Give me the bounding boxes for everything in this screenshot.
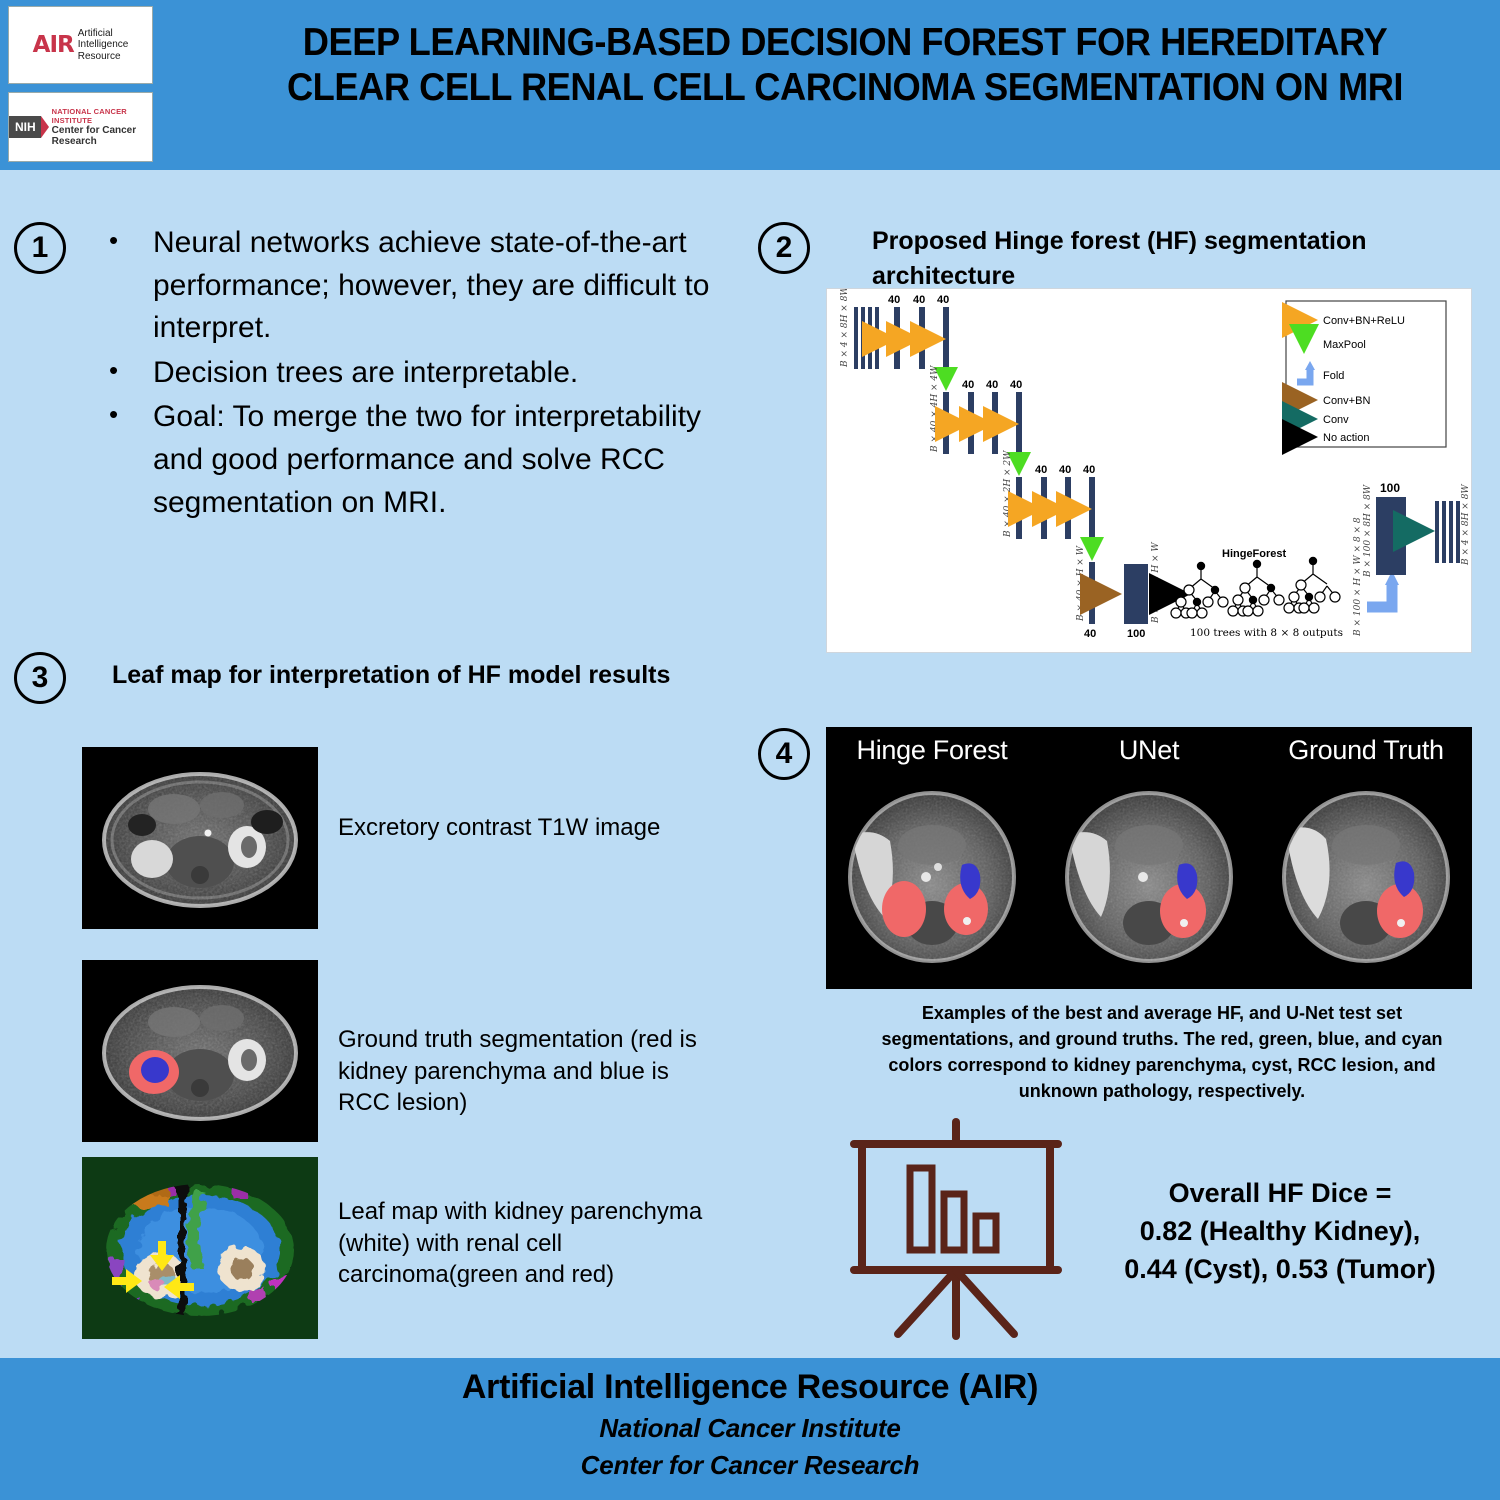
dice-line-1: Overall HF Dice = — [1080, 1175, 1480, 1213]
footer-organization: Artificial Intelligence Resource (AIR) — [0, 1358, 1500, 1407]
air-logo-line2: Intelligence — [78, 39, 129, 50]
nih-logo-mark: NIH NATIONAL CANCER INSTITUTE Center for… — [9, 107, 152, 147]
footer-institute: National Cancer Institute — [0, 1413, 1500, 1444]
dice-line-3: 0.44 (Cyst), 0.53 (Tumor) — [1080, 1251, 1480, 1289]
rcc-lesion-overlay — [141, 1057, 169, 1083]
svg-text:40: 40 — [986, 379, 998, 391]
svg-text:B × 4 × 8H × 8W: B × 4 × 8H × 8W — [840, 289, 850, 368]
list-item-text: Neural networks achieve state-of-the-art… — [153, 222, 735, 350]
panel-label: Ground Truth — [1260, 735, 1472, 766]
excretory-contrast-t1w-mri — [82, 747, 318, 929]
svg-text:40: 40 — [1035, 464, 1047, 476]
section-3-heading: Leaf map for interpretation of HF model … — [112, 658, 722, 693]
svg-text:HingeForest: HingeForest — [1222, 548, 1287, 560]
svg-text:No action: No action — [1323, 432, 1369, 444]
svg-text:B × 100 × H × W: B × 100 × H × W — [1151, 542, 1161, 624]
svg-text:40: 40 — [1059, 464, 1071, 476]
svg-text:40: 40 — [1083, 464, 1095, 476]
dice-line-2: 0.82 (Healthy Kidney), — [1080, 1213, 1480, 1251]
poster-header: AIR Artificial Intelligence Resource NIH… — [0, 0, 1500, 170]
key-points-list: • Neural networks achieve state-of-the-a… — [95, 222, 735, 526]
svg-text:40: 40 — [888, 294, 900, 306]
kidney-parenchyma-overlay — [882, 881, 926, 937]
svg-text:100 trees with 8 × 8 outputs: 100 trees with 8 × 8 outputs — [1190, 627, 1343, 639]
panel-unet: UNet — [1043, 727, 1255, 989]
svg-text:B × 100 × 8H × 8W: B × 100 × 8H × 8W — [1363, 484, 1373, 578]
leaf-map-visualization — [82, 1157, 318, 1339]
svg-text:40: 40 — [1010, 379, 1022, 391]
section-number-2: 2 — [758, 222, 810, 274]
svg-text:B × 100 × H × W × 8 × 8: B × 100 × H × W × 8 × 8 — [1353, 517, 1363, 637]
svg-text:Conv: Conv — [1323, 414, 1349, 426]
svg-text:MaxPool: MaxPool — [1323, 339, 1366, 351]
section-number-1: 1 — [14, 222, 66, 274]
list-item-text: Decision trees are interpretable. — [153, 352, 735, 395]
air-logo: AIR Artificial Intelligence Resource — [8, 6, 153, 84]
air-logo-line1: Artificial — [78, 28, 129, 39]
mri-axial-slice-with-overlay — [82, 960, 318, 1142]
ground-truth-segmentation-mri — [82, 960, 318, 1142]
svg-text:Fold: Fold — [1323, 370, 1344, 382]
architecture-diagram: B × 4 × 8H × 8W 40 40 40 B × 40 × 4H × 4… — [827, 289, 1472, 653]
svg-text:40: 40 — [962, 379, 974, 391]
bullet-glyph: • — [95, 352, 153, 389]
section-4-caption: Examples of the best and average HF, and… — [862, 1000, 1462, 1104]
svg-text:B × 40 × H × W: B × 40 × H × W — [1076, 545, 1086, 622]
svg-text:100: 100 — [1127, 628, 1145, 640]
svg-text:B × 40 × 2H × 2W: B × 40 × 2H × 2W — [1003, 450, 1013, 538]
mri-caption: Leaf map with kidney parenchyma (white) … — [338, 1196, 708, 1291]
hinge-forest-result-image — [826, 727, 1038, 989]
panel-label: Hinge Forest — [826, 735, 1038, 766]
svg-text:40: 40 — [1084, 628, 1096, 640]
mri-caption: Ground truth segmentation (red is kidney… — [338, 1024, 708, 1119]
overall-dice-score: Overall HF Dice = 0.82 (Healthy Kidney),… — [1080, 1175, 1480, 1288]
svg-text:40: 40 — [937, 294, 949, 306]
architecture-legend: Conv+BN+ReLU MaxPool Fold Conv+BN Conv — [1286, 301, 1446, 447]
panel-ground-truth: Ground Truth — [1260, 727, 1472, 989]
bullet-glyph: • — [95, 396, 153, 433]
ccr-line: Center for Cancer Research — [52, 125, 152, 147]
svg-text:100: 100 — [1380, 481, 1400, 495]
svg-text:B × 40 × 4H × 4W: B × 40 × 4H × 4W — [930, 365, 940, 453]
panel-hinge-forest: Hinge Forest — [826, 727, 1038, 989]
air-logo-line3: Resource — [78, 51, 129, 62]
segmentation-comparison-figure: Hinge Forest — [826, 727, 1472, 989]
footer-center: Center for Cancer Research — [0, 1450, 1500, 1481]
presentation-chart-icon — [840, 1118, 1072, 1340]
bullet-glyph: • — [95, 222, 153, 259]
panel-label: UNet — [1043, 735, 1255, 766]
svg-text:Conv+BN+ReLU: Conv+BN+ReLU — [1323, 315, 1405, 327]
svg-text:B × 4 × 8H × 8W: B × 4 × 8H × 8W — [1461, 484, 1471, 566]
list-item: • Decision trees are interpretable. — [95, 352, 735, 395]
list-item-text: Goal: To merge the two for interpretabil… — [153, 396, 735, 524]
page-title: DEEP LEARNING-BASED DECISION FOREST FOR … — [245, 20, 1445, 110]
nih-nci-logo: NIH NATIONAL CANCER INSTITUTE Center for… — [8, 92, 153, 162]
svg-text:Conv+BN: Conv+BN — [1323, 395, 1370, 407]
unet-result-image — [1043, 727, 1255, 989]
poster-footer: Artificial Intelligence Resource (AIR) N… — [0, 1358, 1500, 1500]
nih-logo-words: NATIONAL CANCER INSTITUTE Center for Can… — [52, 107, 152, 147]
hinge-forest-architecture-figure: B × 4 × 8H × 8W 40 40 40 B × 40 × 4H × 4… — [826, 288, 1472, 653]
air-logo-words: Artificial Intelligence Resource — [78, 28, 129, 62]
nci-line: NATIONAL CANCER INSTITUTE — [52, 107, 152, 125]
nih-badge: NIH — [9, 116, 41, 138]
mri-axial-slice — [82, 747, 318, 929]
air-logo-mark: AIR Artificial Intelligence Resource — [33, 28, 129, 62]
bar-chart-board-icon — [840, 1118, 1072, 1340]
section-number-4: 4 — [758, 728, 810, 780]
leaf-map-mri — [82, 1157, 318, 1339]
ground-truth-result-image — [1260, 727, 1472, 989]
svg-text:40: 40 — [913, 294, 925, 306]
section-number-3: 3 — [14, 652, 66, 704]
list-item: • Neural networks achieve state-of-the-a… — [95, 222, 735, 350]
section-2-heading: Proposed Hinge forest (HF) segmentation … — [872, 224, 1442, 293]
mri-caption: Excretory contrast T1W image — [338, 812, 708, 844]
list-item: • Goal: To merge the two for interpretab… — [95, 396, 735, 524]
air-logo-letters: AIR — [33, 34, 74, 57]
